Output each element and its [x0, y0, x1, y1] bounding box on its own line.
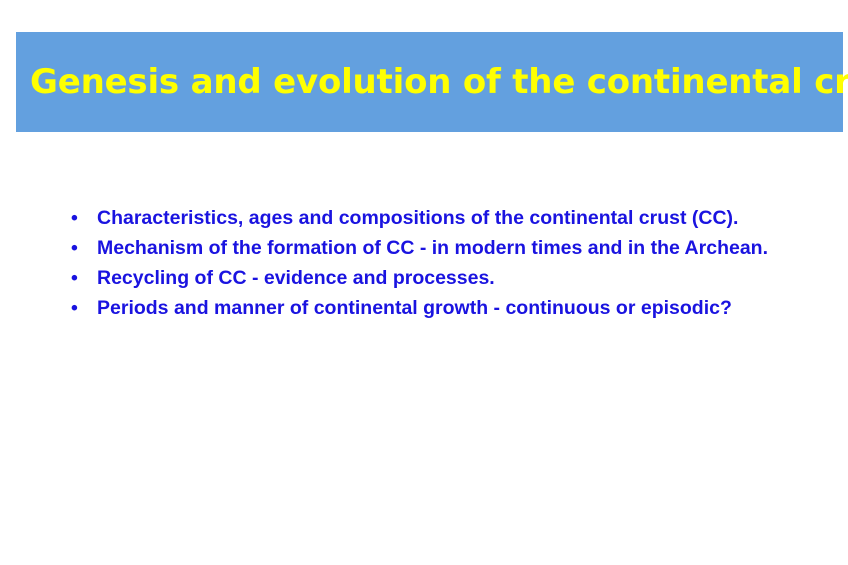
- bullet-point-icon: •: [71, 293, 87, 323]
- list-item-text: Characteristics, ages and compositions o…: [97, 203, 788, 233]
- bullet-point-icon: •: [71, 233, 87, 263]
- list-item: • Characteristics, ages and compositions…: [64, 203, 788, 233]
- list-item-text: Mechanism of the formation of CC - in mo…: [97, 233, 788, 263]
- title-banner: Genesis and evolution of the continental…: [16, 32, 843, 132]
- presentation-slide: Genesis and evolution of the continental…: [0, 0, 848, 565]
- list-item: • Recycling of CC - evidence and process…: [64, 263, 788, 293]
- bullet-point-icon: •: [71, 203, 87, 233]
- bullet-point-icon: •: [71, 263, 87, 293]
- list-item-text: Recycling of CC - evidence and processes…: [97, 263, 788, 293]
- list-item-text: Periods and manner of continental growth…: [97, 293, 788, 323]
- bullet-list: • Characteristics, ages and compositions…: [64, 203, 788, 323]
- slide-title: Genesis and evolution of the continental…: [30, 60, 835, 104]
- list-item: • Mechanism of the formation of CC - in …: [64, 233, 788, 263]
- list-item: • Periods and manner of continental grow…: [64, 293, 788, 323]
